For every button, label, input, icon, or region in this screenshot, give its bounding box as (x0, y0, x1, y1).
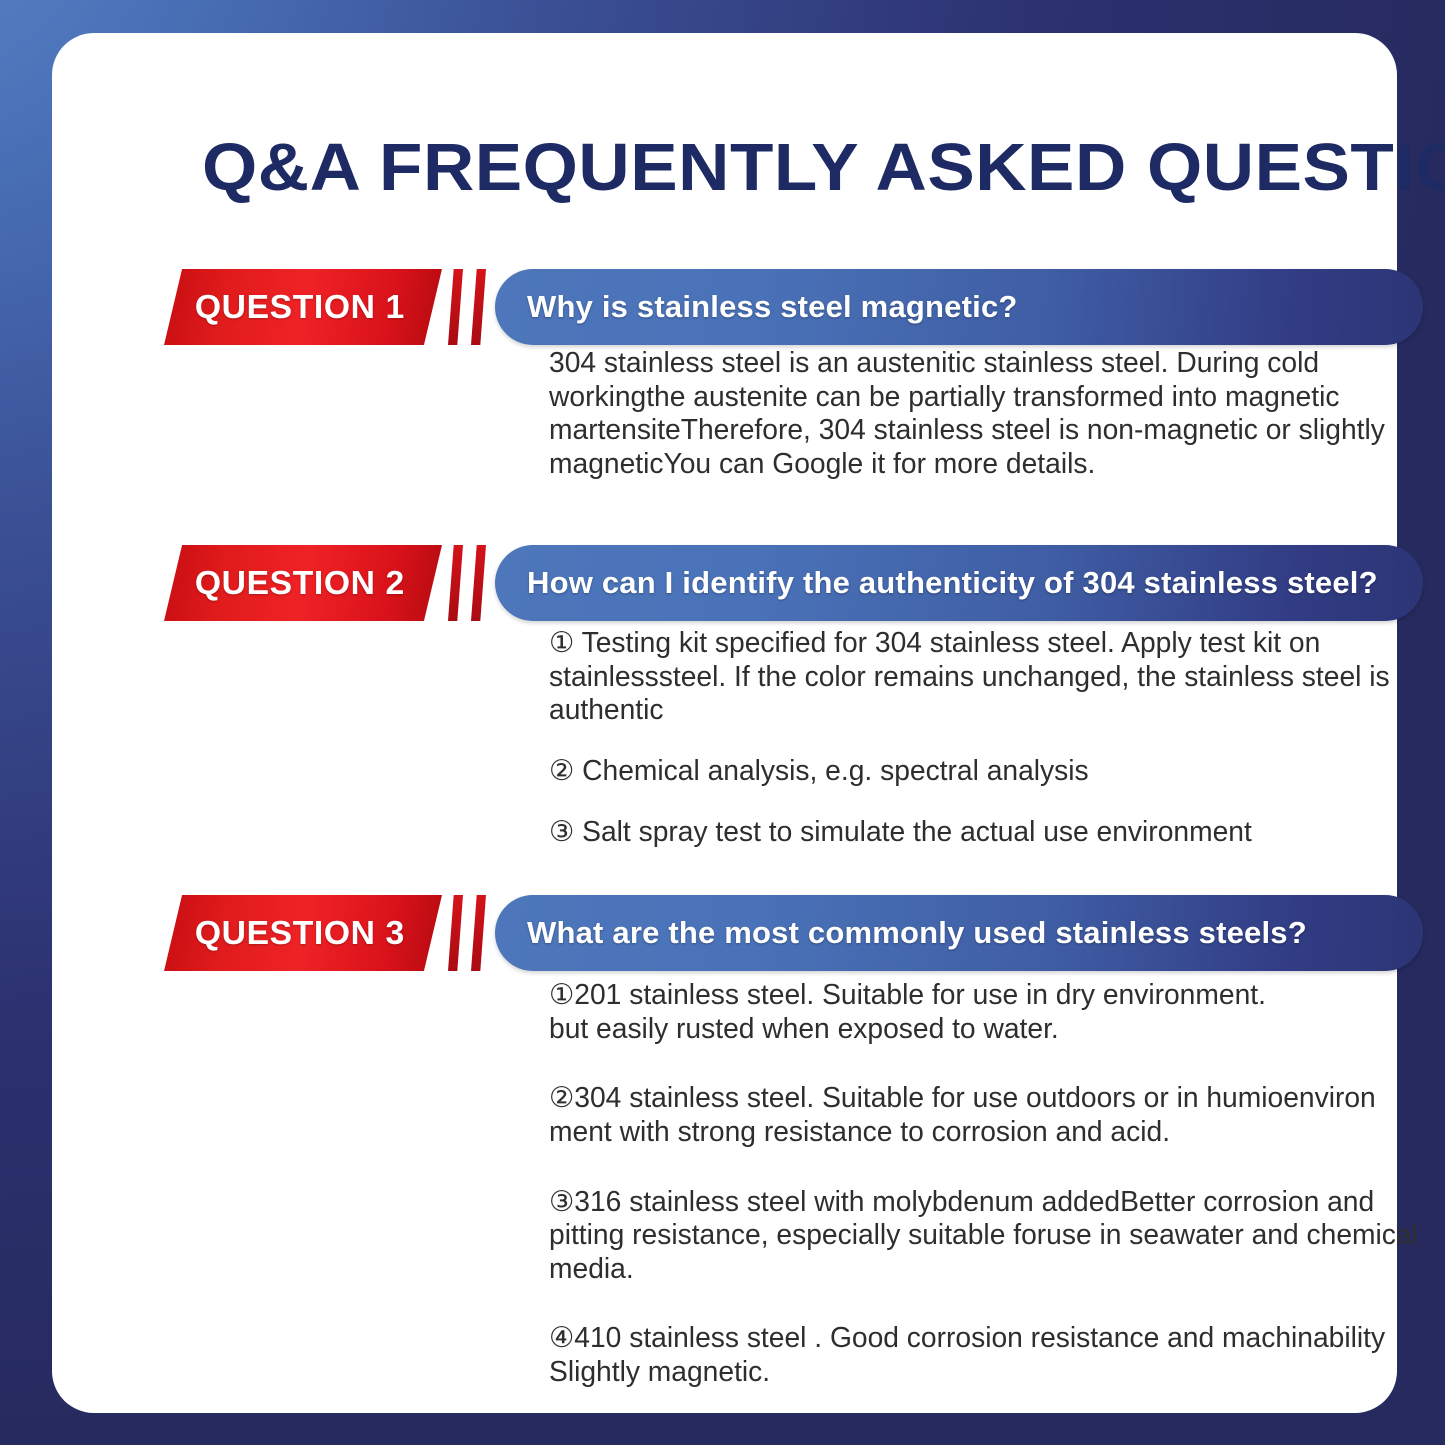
question-text-1: Why is stainless steel magnetic? (495, 289, 1044, 325)
page-title: Q&A FREQUENTLY ASKED QUESTIONS (202, 133, 1432, 203)
slash-divider-icon-3b (471, 895, 486, 971)
question-banner-row-3: QUESTION 3 What are the most commonly us… (52, 895, 1397, 971)
answer-paragraph: ①201 stainless steel. Suitable for use i… (549, 979, 1435, 1046)
question-tag-label-3: QUESTION 3 (195, 914, 411, 952)
question-tag-label-2: QUESTION 2 (195, 564, 411, 602)
question-tag-label-1: QUESTION 1 (195, 288, 411, 326)
faq-item-3: QUESTION 3 What are the most commonly us… (52, 895, 1397, 971)
answer-group-1: 304 stainless steel is an austenitic sta… (549, 347, 1429, 482)
faq-item-2: QUESTION 2 How can I identify the authen… (52, 545, 1397, 621)
answer-paragraph: ②304 stainless steel. Suitable for use o… (549, 1082, 1435, 1149)
question-banner-2[interactable]: How can I identify the authenticity of 3… (495, 545, 1423, 621)
answer-paragraph: 304 stainless steel is an austenitic sta… (549, 347, 1420, 482)
page-background: Q&A FREQUENTLY ASKED QUESTIONS QUESTION … (0, 0, 1445, 1445)
question-banner-row-1: QUESTION 1 Why is stainless steel magnet… (52, 269, 1397, 345)
question-text-3: What are the most commonly used stainles… (495, 915, 1333, 951)
answer-group-3: ①201 stainless steel. Suitable for use i… (549, 979, 1444, 1390)
answer-paragraph: ④410 stainless steel . Good corrosion re… (549, 1322, 1435, 1389)
faq-item-1: QUESTION 1 Why is stainless steel magnet… (52, 269, 1397, 345)
answer-paragraph: ① Testing kit specified for 304 stainles… (549, 627, 1420, 728)
answer-group-2: ① Testing kit specified for 304 stainles… (549, 627, 1429, 849)
question-banner-3[interactable]: What are the most commonly used stainles… (495, 895, 1423, 971)
slash-divider-icon-1a (448, 269, 463, 345)
slash-divider-icon-1b (471, 269, 486, 345)
question-tag-2[interactable]: QUESTION 2 (164, 545, 442, 621)
question-banner-row-2: QUESTION 2 How can I identify the authen… (52, 545, 1397, 621)
slash-divider-icon-3a (448, 895, 463, 971)
question-banner-1[interactable]: Why is stainless steel magnetic? (495, 269, 1423, 345)
question-text-2: How can I identify the authenticity of 3… (495, 565, 1404, 601)
question-tag-1[interactable]: QUESTION 1 (164, 269, 442, 345)
slash-divider-icon-2a (448, 545, 463, 621)
faq-card: Q&A FREQUENTLY ASKED QUESTIONS QUESTION … (52, 33, 1397, 1413)
answer-paragraph: ③316 stainless steel with molybdenum add… (549, 1186, 1435, 1287)
slash-divider-icon-2b (471, 545, 486, 621)
answer-paragraph: ③ Salt spray test to simulate the actual… (549, 816, 1420, 850)
answer-paragraph: ② Chemical analysis, e.g. spectral analy… (549, 755, 1420, 789)
question-tag-3[interactable]: QUESTION 3 (164, 895, 442, 971)
